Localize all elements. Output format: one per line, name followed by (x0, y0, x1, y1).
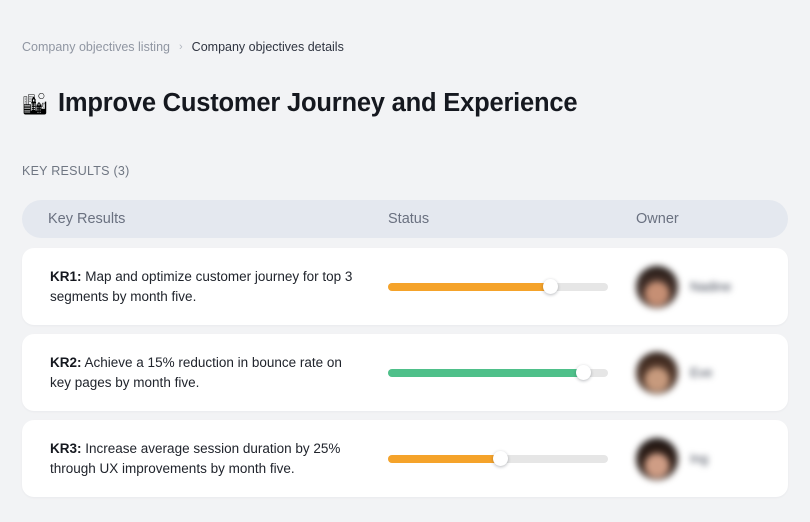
status-cell (388, 283, 636, 291)
column-header-owner: Owner (636, 211, 788, 227)
page-title-row: 🏙 Improve Customer Journey and Experienc… (22, 71, 788, 135)
progress-slider[interactable] (388, 369, 608, 377)
progress-handle[interactable] (576, 365, 591, 380)
cityscape-buildings-icon: 🏙 (22, 90, 48, 116)
status-cell (388, 369, 636, 377)
avatar[interactable] (636, 266, 678, 308)
column-header-key-results: Key Results (22, 211, 388, 227)
breadcrumb: Company objectives listing › Company obj… (22, 0, 788, 55)
owner-cell: Eve (636, 352, 788, 394)
key-results-section-label: KEY RESULTS (3) (22, 164, 788, 178)
owner-cell: Nadine (636, 266, 788, 308)
column-header-status: Status (388, 211, 636, 227)
owner-name: Eve (690, 365, 712, 380)
table-header-row: Key Results Status Owner (22, 200, 788, 238)
key-result-tag: KR1: (50, 269, 82, 284)
progress-handle[interactable] (493, 451, 508, 466)
table-row[interactable]: KR1: Map and optimize customer journey f… (22, 248, 788, 325)
key-results-list: KR1: Map and optimize customer journey f… (22, 248, 788, 497)
progress-slider[interactable] (388, 283, 608, 291)
breadcrumb-link-listing[interactable]: Company objectives listing (22, 39, 170, 55)
owner-cell: Ing (636, 438, 788, 480)
progress-fill (388, 283, 551, 291)
table-row[interactable]: KR3: Increase average session duration b… (22, 420, 788, 497)
progress-fill (388, 369, 584, 377)
objective-details-page: Company objectives listing › Company obj… (0, 0, 810, 522)
avatar[interactable] (636, 438, 678, 480)
table-row[interactable]: KR2: Achieve a 15% reduction in bounce r… (22, 334, 788, 411)
avatar[interactable] (636, 352, 678, 394)
key-result-tag: KR2: (50, 355, 82, 370)
page-title: Improve Customer Journey and Experience (58, 88, 577, 118)
breadcrumb-current-details: Company objectives details (192, 39, 344, 55)
chevron-right-icon: › (179, 39, 183, 55)
key-result-description: Map and optimize customer journey for to… (50, 269, 352, 304)
key-result-text: KR3: Increase average session duration b… (22, 439, 388, 479)
key-result-description: Achieve a 15% reduction in bounce rate o… (50, 355, 342, 390)
status-cell (388, 455, 636, 463)
owner-name: Nadine (690, 279, 731, 294)
key-result-text: KR2: Achieve a 15% reduction in bounce r… (22, 353, 388, 393)
key-result-tag: KR3: (50, 441, 82, 456)
key-result-description: Increase average session duration by 25%… (50, 441, 340, 476)
owner-name: Ing (690, 451, 708, 466)
progress-handle[interactable] (543, 279, 558, 294)
progress-slider[interactable] (388, 455, 608, 463)
progress-fill (388, 455, 500, 463)
key-result-text: KR1: Map and optimize customer journey f… (22, 267, 388, 307)
